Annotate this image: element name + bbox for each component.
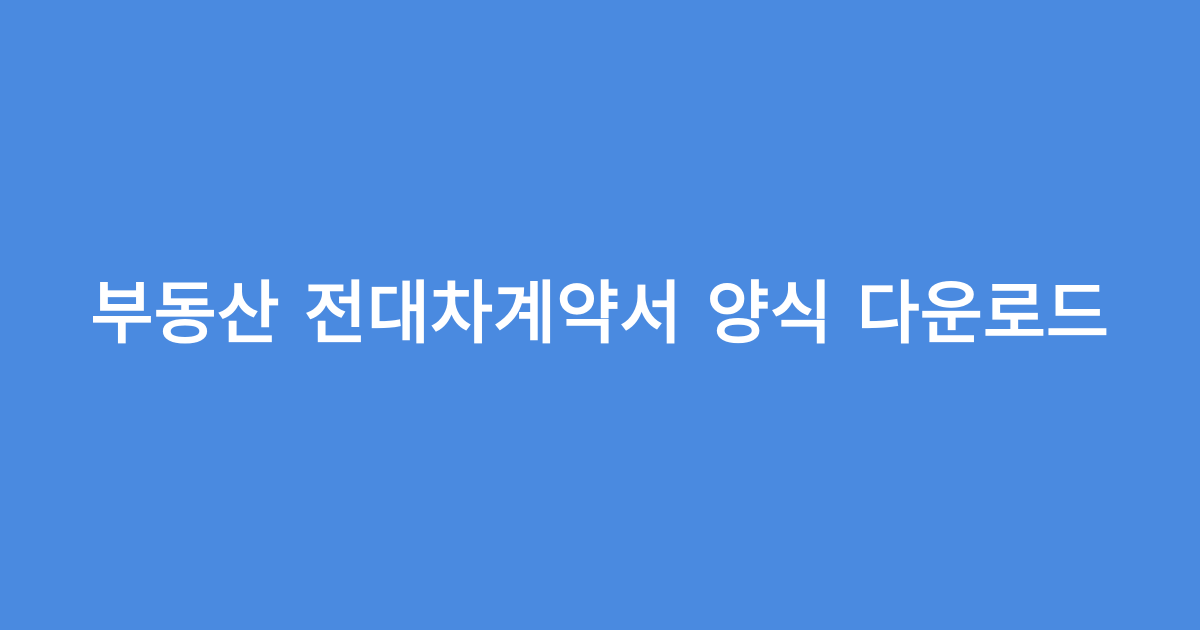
social-share-card: 부동산 전대차계약서 양식 다운로드 <box>0 0 1200 630</box>
card-title: 부동산 전대차계약서 양식 다운로드 <box>91 274 1109 357</box>
card-content-wrapper: 부동산 전대차계약서 양식 다운로드 <box>0 274 1200 357</box>
